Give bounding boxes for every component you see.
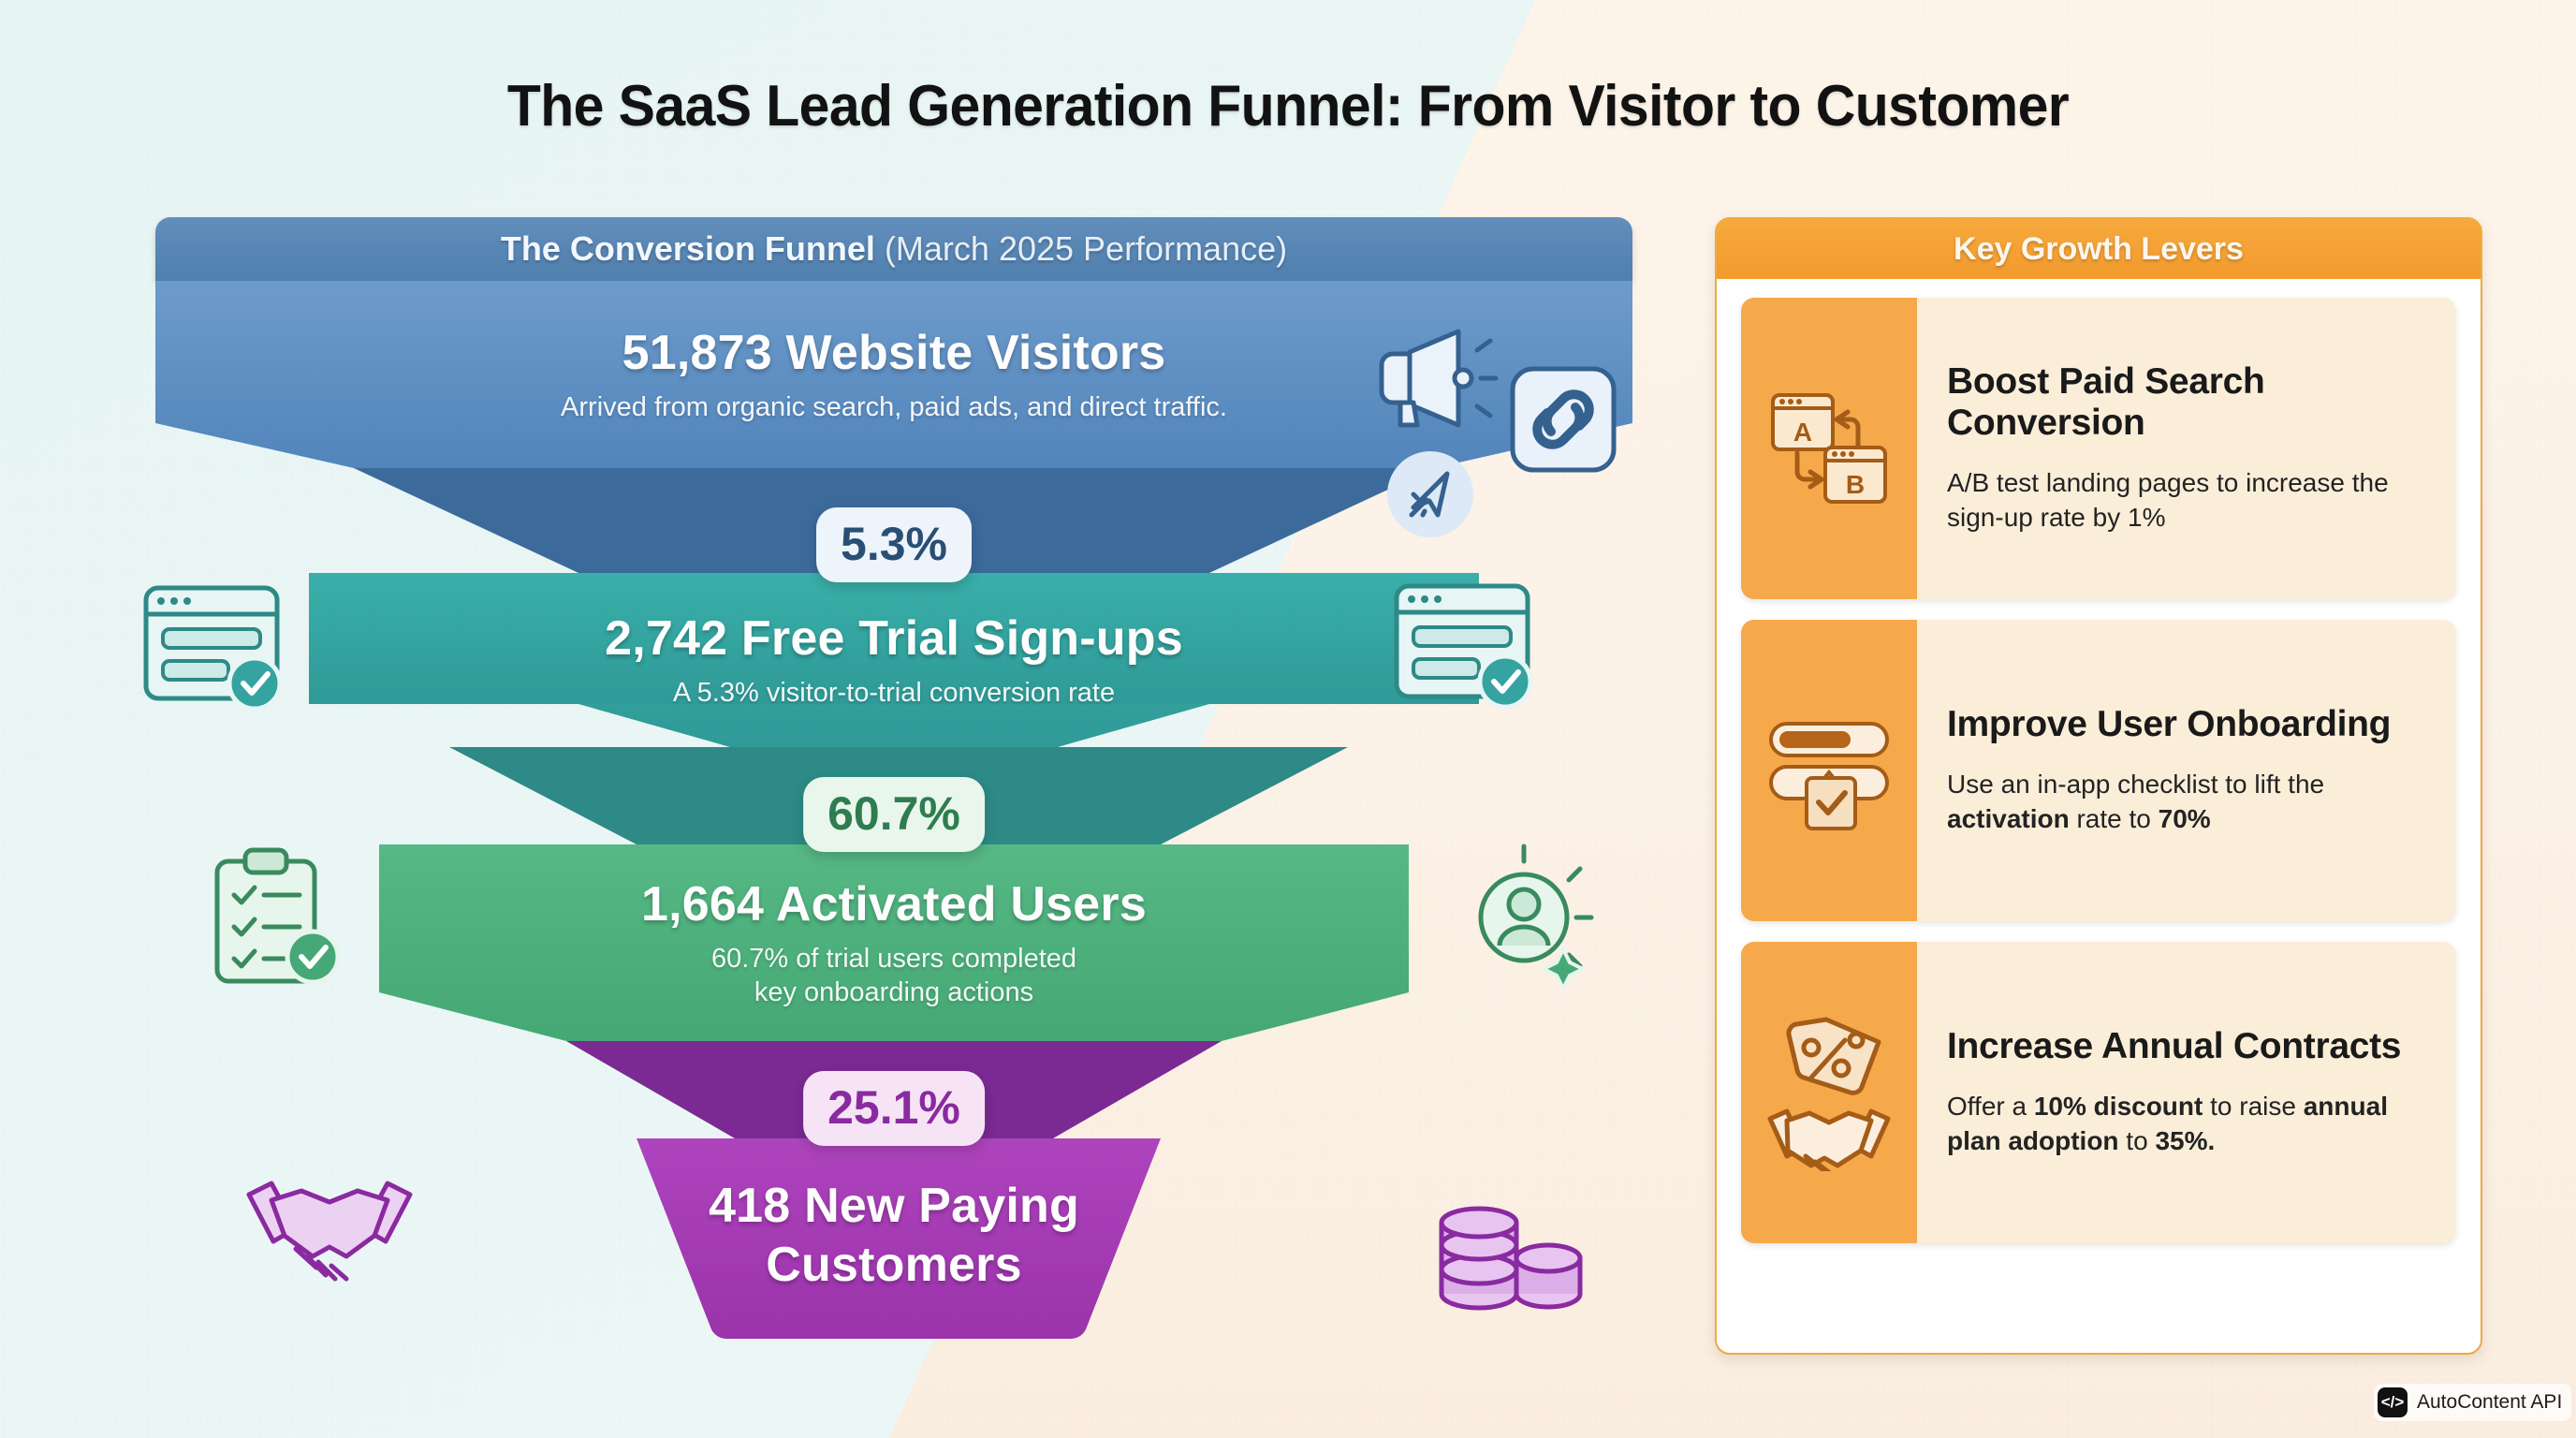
funnel-header: The Conversion Funnel (March 2025 Perfor… — [155, 217, 1632, 281]
ab-test-icon: A B — [1769, 378, 1889, 519]
code-icon: </> — [2378, 1387, 2408, 1417]
lever-card-annual-contracts[interactable]: Increase Annual Contracts Offer a 10% di… — [1741, 942, 2456, 1243]
key-growth-levers-panel: Key Growth Levers A B — [1715, 217, 2482, 1355]
signup-form-icon — [142, 584, 301, 715]
lever-text-3: Increase Annual Contracts Offer a 10% di… — [1917, 942, 2456, 1243]
conversion-badge-1: 5.3% — [816, 507, 972, 582]
link-icon — [1509, 365, 1617, 474]
stage-2-subtitle: A 5.3% visitor-to-trial conversion rate — [673, 677, 1115, 710]
coins-icon — [1434, 1193, 1584, 1314]
discount-handshake-icon — [1764, 1014, 1894, 1171]
onboarding-checklist-icon — [1767, 709, 1891, 832]
lever-text-2: Improve User Onboarding Use an in-app ch… — [1917, 620, 2456, 921]
levers-list: A B Boost Paid Search Conversion A/B tes… — [1717, 279, 2481, 1243]
conversion-badge-3: 25.1% — [803, 1071, 985, 1146]
watermark-label: AutoContent API — [2417, 1391, 2562, 1414]
lever-card-paid-search[interactable]: A B Boost Paid Search Conversion A/B tes… — [1741, 298, 2456, 599]
conversion-funnel: The Conversion Funnel (March 2025 Perfor… — [140, 217, 1647, 1369]
watermark: </> AutoContent API — [2374, 1384, 2571, 1421]
funnel-header-bold: The Conversion Funnel — [501, 229, 875, 268]
lever-title-1: Boost Paid Search Conversion — [1947, 361, 2428, 444]
funnel-stage-activated[interactable]: 1,664 Activated Users 60.7% of trial use… — [140, 844, 1647, 1041]
lever-icon-slot-3 — [1741, 942, 1917, 1243]
funnel-header-text: The Conversion Funnel (March 2025 Perfor… — [501, 229, 1287, 269]
lever-title-2: Improve User Onboarding — [1947, 704, 2428, 745]
lever-icon-slot-2 — [1741, 620, 1917, 921]
stage-2-value: 2,742 Free Trial Sign-ups — [605, 610, 1183, 667]
lever-card-onboarding[interactable]: Improve User Onboarding Use an in-app ch… — [1741, 620, 2456, 921]
lever-desc-3: Offer a 10% discount to raise annual pla… — [1947, 1089, 2428, 1159]
conversion-badge-2: 60.7% — [803, 777, 985, 852]
lever-desc-2: Use an in-app checklist to lift the acti… — [1947, 767, 2428, 837]
lever-text-1: Boost Paid Search Conversion A/B test la… — [1917, 298, 2456, 599]
signup-form-check-icon — [1393, 582, 1552, 713]
page-title: The SaaS Lead Generation Funnel: From Vi… — [65, 73, 2511, 139]
lever-desc-1: A/B test landing pages to increase the s… — [1947, 465, 2428, 536]
user-activated-icon — [1449, 839, 1599, 989]
checklist-icon — [208, 846, 348, 994]
handshake-icon — [243, 1163, 416, 1303]
levers-header: Key Growth Levers — [1717, 219, 2481, 279]
lever-title-3: Increase Annual Contracts — [1947, 1026, 2428, 1067]
stage-3-subtitle: 60.7% of trial users completed key onboa… — [711, 943, 1076, 1009]
stage-1-value: 51,873 Website Visitors — [622, 325, 1166, 381]
svg-text:B: B — [1846, 470, 1865, 499]
lever-icon-slot-1: A B — [1741, 298, 1917, 599]
cursor-click-icon — [1385, 449, 1475, 539]
funnel-header-light: (March 2025 Performance) — [885, 229, 1287, 268]
stage-3-value: 1,664 Activated Users — [641, 876, 1147, 932]
levers-header-text: Key Growth Levers — [1954, 231, 2244, 268]
svg-text:A: A — [1793, 418, 1812, 447]
megaphone-icon — [1368, 322, 1500, 433]
stage-4-value: 418 New Paying Customers — [709, 1177, 1079, 1296]
stage-1-subtitle: Arrived from organic search, paid ads, a… — [561, 391, 1227, 424]
